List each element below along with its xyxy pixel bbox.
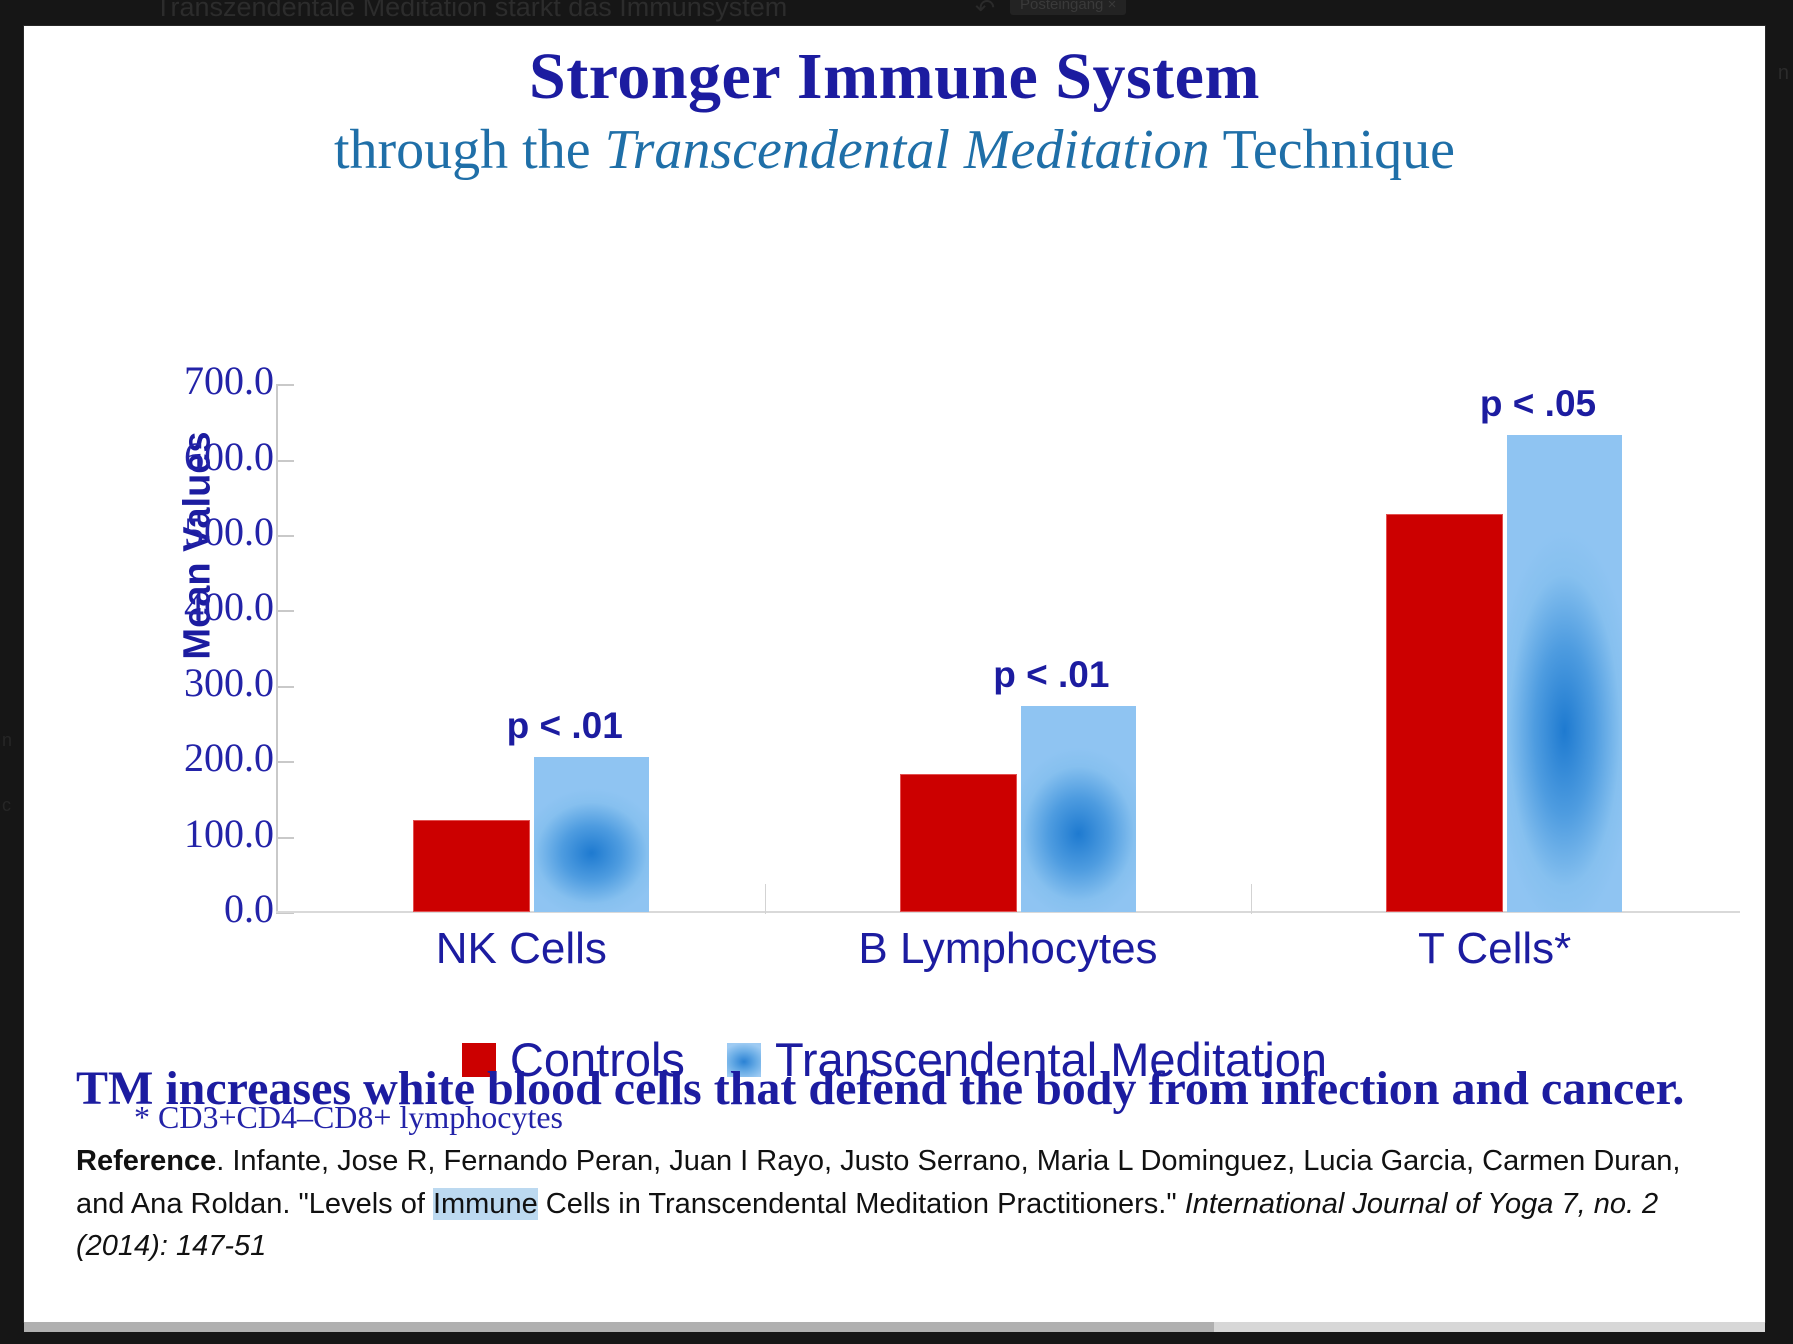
slide-subtitle: through the Transcendental Meditation Te…	[24, 121, 1765, 180]
p-value-annotation: p < .01	[507, 705, 623, 747]
inbox-label-chip[interactable]: Posteingang ×	[1010, 0, 1126, 15]
y-tick-label: 200.0	[124, 734, 274, 781]
bottom-text-block: TM increases white blood cells that defe…	[76, 1056, 1726, 1267]
summary-statement: TM increases white blood cells that defe…	[76, 1056, 1726, 1122]
subtitle-italic: Transcendental Meditation	[605, 119, 1210, 181]
bar-group	[413, 384, 649, 912]
horizontal-scrollbar[interactable]	[24, 1322, 1765, 1332]
reference-label: Reference	[76, 1145, 216, 1177]
bar-controls	[1386, 514, 1503, 912]
backdrop-left-fragment-2: c	[2, 795, 11, 816]
reference-citation: Reference. Infante, Jose R, Fernando Per…	[76, 1140, 1726, 1267]
bar-chart: Mean Values 700.0600.0500.0400.0300.0200…	[24, 194, 1765, 954]
y-tick-label: 100.0	[124, 810, 274, 857]
search-highlight-immune: Immune	[433, 1188, 538, 1220]
y-axis-tick-labels: 700.0600.0500.0400.0300.0200.0100.00.0	[104, 194, 274, 754]
p-value-annotation: p < .05	[1480, 383, 1596, 425]
bar-transcendental-meditation	[534, 757, 649, 912]
bar-transcendental-meditation	[1507, 435, 1622, 912]
image-preview-panel: Stronger Immune System through the Trans…	[24, 26, 1765, 1322]
y-tick-label: 600.0	[124, 433, 274, 480]
category-separator	[765, 884, 766, 914]
reference-part-2: Cells in Transcendental Meditation Pract…	[538, 1188, 1185, 1220]
bar-controls	[900, 774, 1017, 912]
slide-title: Stronger Immune System	[24, 42, 1765, 111]
y-tick-label: 0.0	[124, 885, 274, 932]
y-tick-label: 700.0	[124, 357, 274, 404]
bar-controls	[413, 820, 530, 913]
backdrop-left-fragment-1: n	[2, 730, 12, 751]
scrollbar-thumb[interactable]	[24, 1322, 1214, 1332]
y-tick-label: 300.0	[124, 659, 274, 706]
bar-group	[1386, 384, 1622, 912]
subtitle-prefix: through the	[334, 119, 605, 181]
y-tick-label: 400.0	[124, 583, 274, 630]
y-tick-label: 500.0	[124, 508, 274, 555]
plot-area	[278, 384, 1738, 912]
bar-group	[900, 384, 1136, 912]
category-label: T Cells*	[1251, 924, 1738, 974]
subtitle-suffix: Technique	[1210, 119, 1455, 181]
email-subject: Transzendentale Meditation stärkt das Im…	[155, 0, 787, 23]
p-value-annotation: p < .01	[993, 654, 1109, 696]
category-separator	[1251, 884, 1252, 914]
backdrop-right-fragment: n	[1778, 62, 1789, 85]
category-label: B Lymphocytes	[765, 924, 1252, 974]
category-label: NK Cells	[278, 924, 765, 974]
bar-transcendental-meditation	[1021, 706, 1136, 912]
reply-all-icon[interactable]: ↶	[975, 0, 995, 23]
